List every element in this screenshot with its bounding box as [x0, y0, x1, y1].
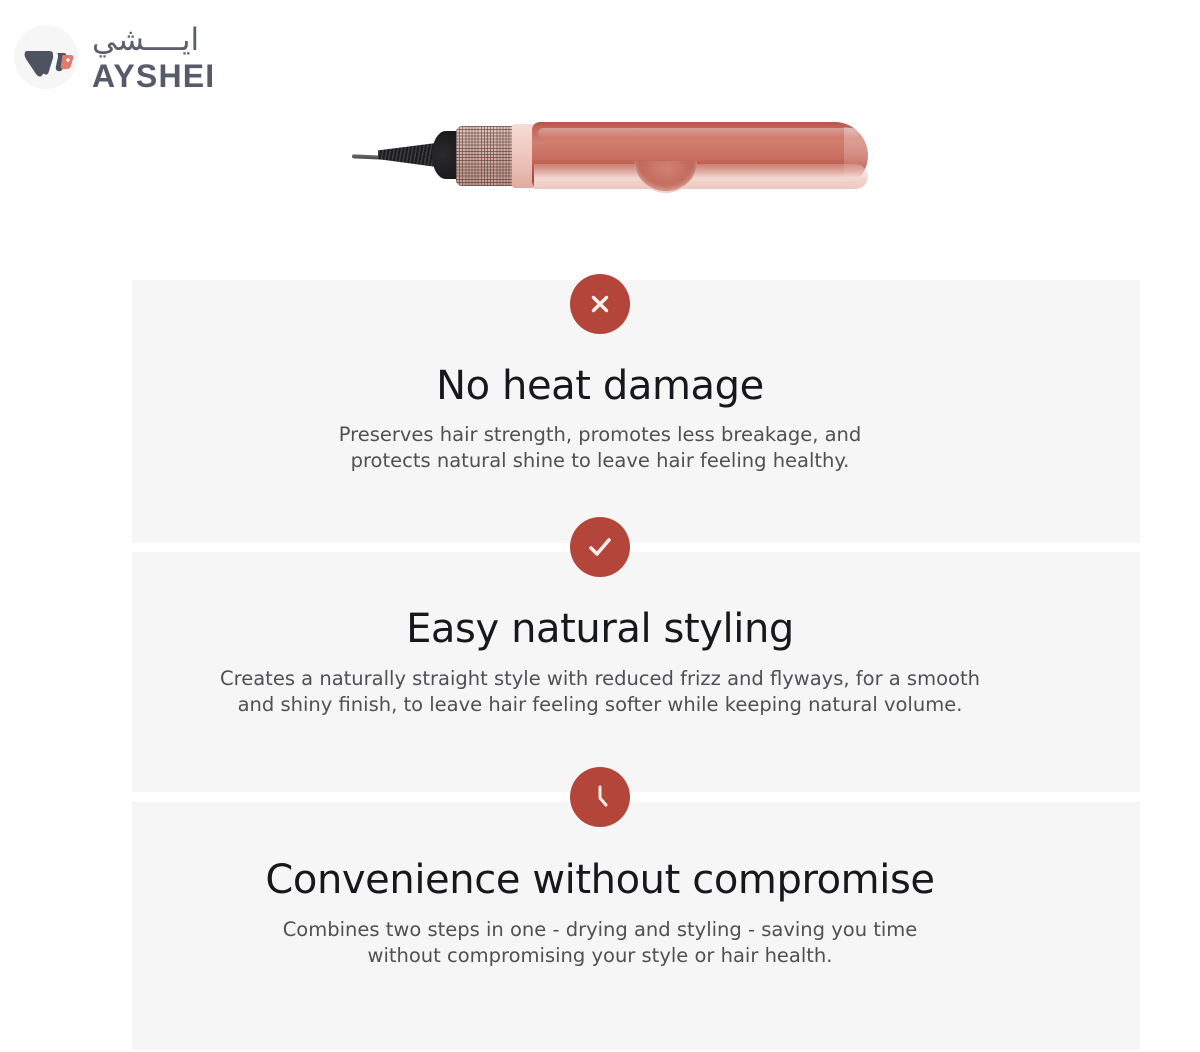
barrel-top-highlight: [538, 128, 860, 139]
brand-wordmark: ايــــشي AYSHEI: [92, 22, 215, 92]
cross-circle-icon: [570, 274, 630, 334]
feature-description-line: and shiny finish, to leave hair feeling …: [0, 692, 1200, 718]
clock-circle-icon: [570, 767, 630, 827]
product-hero: [0, 100, 1200, 240]
feature-description: Combines two steps in one - drying and s…: [0, 917, 1200, 969]
ayshei-logo-icon: [14, 25, 78, 89]
feature-panel-no-heat-damage: [132, 280, 1140, 543]
feature-description-line: Creates a naturally straight style with …: [0, 666, 1200, 692]
brand-name-arabic: ايــــشي: [92, 22, 199, 58]
brand-header: ايــــشي AYSHEI: [14, 22, 215, 92]
check-circle-icon: [570, 517, 630, 577]
brand-name-latin: AYSHEI: [92, 60, 215, 92]
barrel-lower-tone: [534, 164, 868, 189]
feature-title: Convenience without compromise: [0, 857, 1200, 903]
feature-title: Easy natural styling: [0, 606, 1200, 652]
feature-description-line: Preserves hair strength, promotes less b…: [0, 422, 1200, 448]
feature-description-line: Combines two steps in one - drying and s…: [0, 917, 1200, 943]
hair-dryer-styler-image: [352, 117, 868, 193]
feature-description: Preserves hair strength, promotes less b…: [0, 422, 1200, 474]
feature-title: No heat damage: [0, 363, 1200, 409]
feature-description-line: without compromising your style or hair …: [0, 943, 1200, 969]
feature-description-line: protects natural shine to leave hair fee…: [0, 448, 1200, 474]
air-intake-grille: [456, 126, 516, 186]
feature-description: Creates a naturally straight style with …: [0, 666, 1200, 718]
